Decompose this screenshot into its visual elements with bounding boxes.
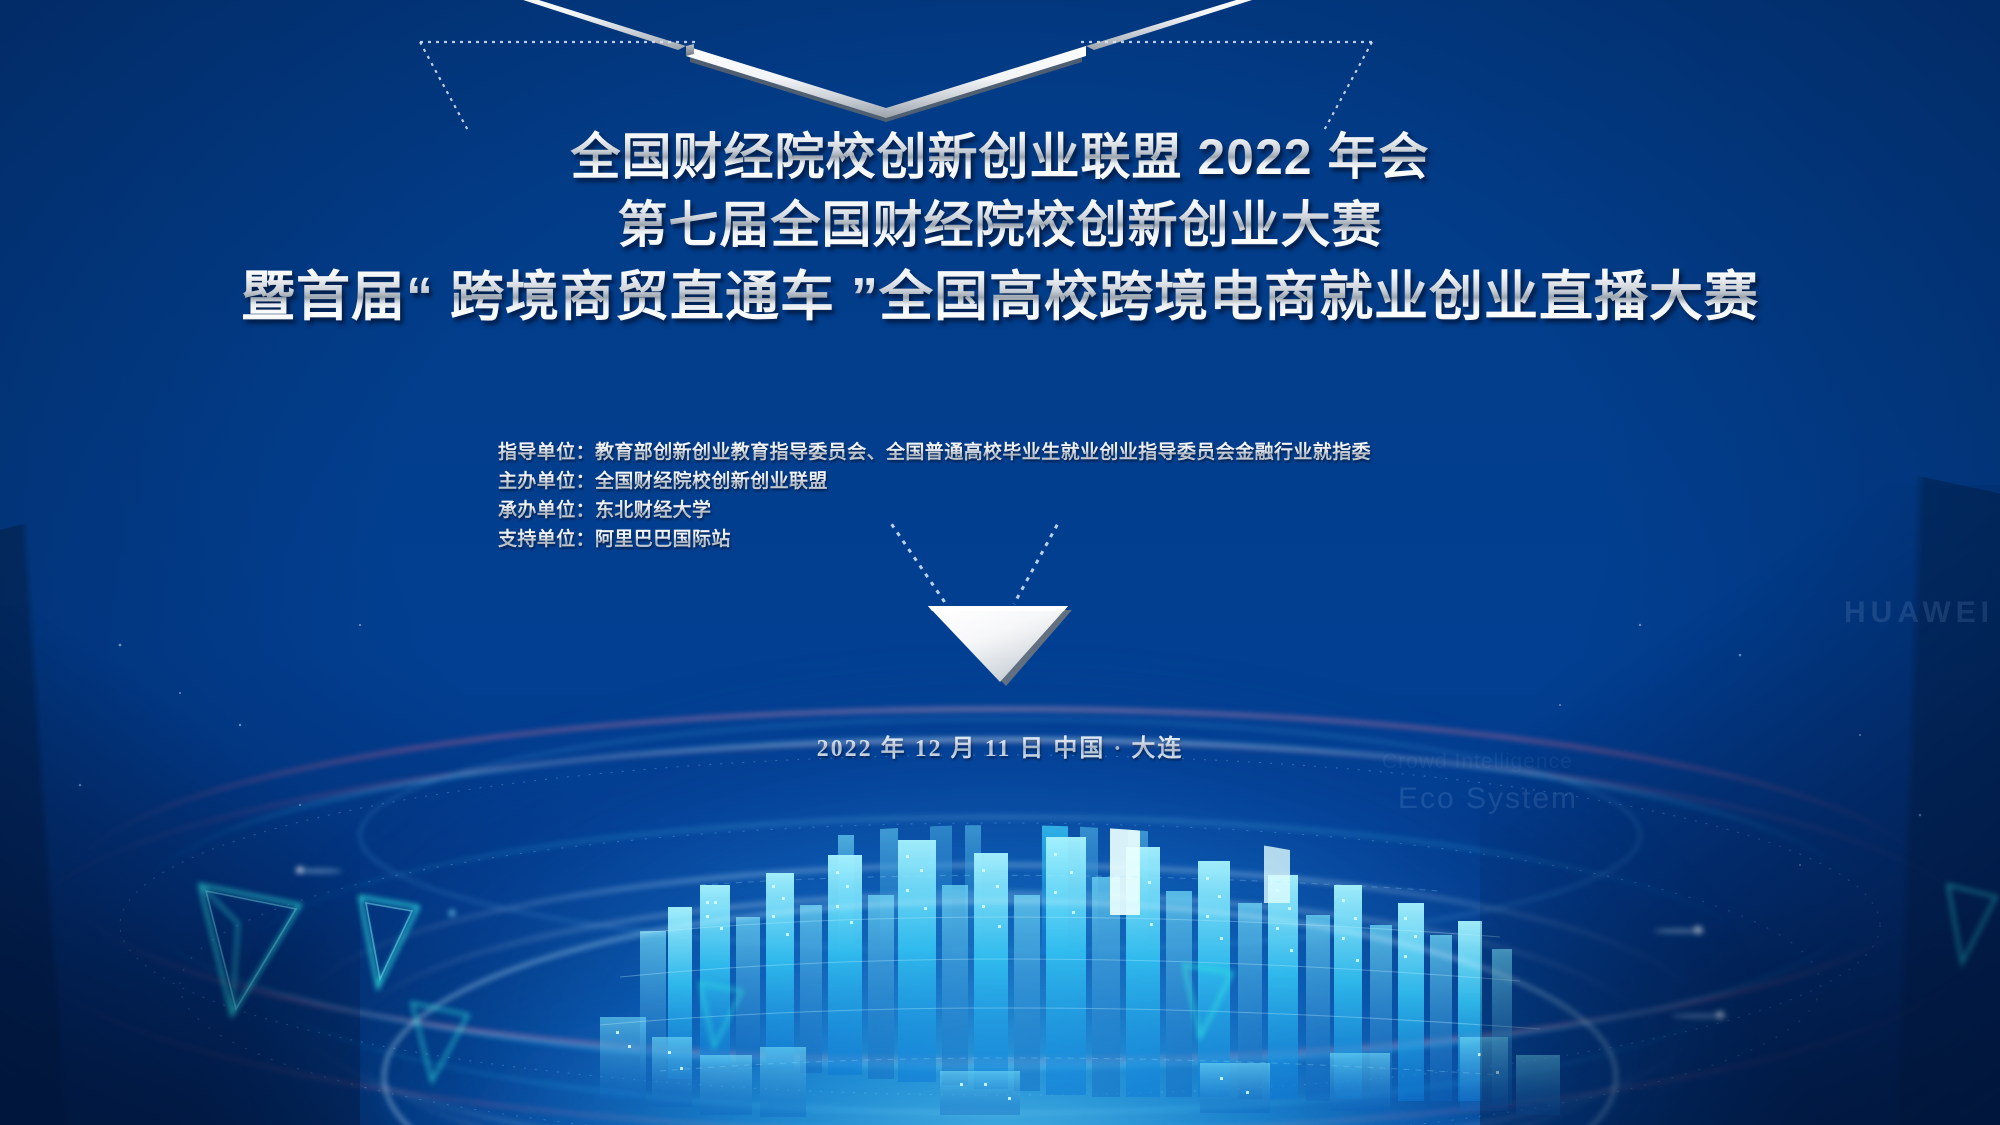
title-line-1: 全国财经院校创新创业联盟 2022 年会 — [0, 126, 2000, 188]
organizer-list: 指导单位：教育部创新创业教育指导委员会、全国普通高校毕业生就业创业指导委员会金融… — [380, 438, 1620, 554]
organizer-row-host: 主办单位：全国财经院校创新创业联盟 — [498, 467, 1620, 496]
huawei-watermark: HUAWEI — [1844, 596, 1994, 630]
organizer-row-guidance: 指导单位：教育部创新创业教育指导委员会、全国普通高校毕业生就业创业指导委员会金融… — [498, 438, 1620, 467]
title-line-2: 第七届全国财经院校创新创业大赛 — [0, 194, 2000, 256]
title-line-3: 暨首届“ 跨境商贸直通车 ”全国高校跨境电商就业创业直播大赛 — [0, 264, 2000, 331]
event-poster: 全国财经院校创新创业联盟 2022 年会 第七届全国财经院校创新创业大赛 暨首届… — [0, 0, 2000, 1125]
organizer-row-organizer: 承办单位：东北财经大学 — [498, 496, 1620, 525]
event-dateline: 2022 年 12 月 11 日 中国 · 大连 — [0, 728, 2000, 763]
eco-system-watermark: Eco System — [1398, 782, 1578, 816]
organizer-row-supporter: 支持单位：阿里巴巴国际站 — [498, 525, 1620, 554]
headline-block: 全国财经院校创新创业联盟 2022 年会 第七届全国财经院校创新创业大赛 暨首届… — [0, 126, 2000, 331]
eco-system-upper-watermark: Crowd Intelligence — [1382, 750, 1573, 774]
